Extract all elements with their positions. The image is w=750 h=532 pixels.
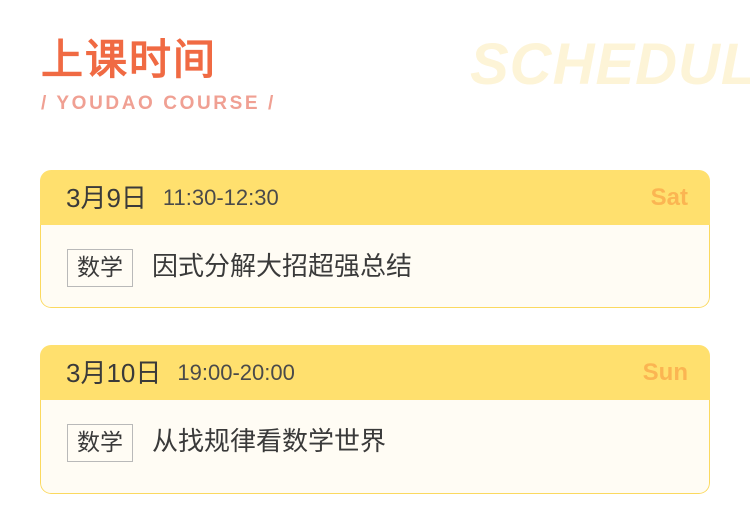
course-title: 从找规律看数学世界 xyxy=(152,428,386,454)
schedule-card[interactable]: 3月9日 11:30-12:30 Sat 数学 因式分解大招超强总结 xyxy=(40,170,710,308)
schedule-card-header: 3月9日 11:30-12:30 Sat xyxy=(40,170,710,225)
schedule-date: 3月10日 xyxy=(66,360,161,386)
page-header: SCHEDULE 上课时间 / YOUDAO COURSE / xyxy=(0,0,750,150)
schedule-time: 19:00-20:00 xyxy=(177,362,294,384)
schedule-weekday: Sun xyxy=(643,361,688,385)
subject-tag: 数学 xyxy=(67,424,133,462)
schedule-watermark-text: SCHEDULE xyxy=(470,36,750,94)
schedule-card[interactable]: 3月10日 19:00-20:00 Sun 数学 从找规律看数学世界 xyxy=(40,345,710,494)
schedule-time: 11:30-12:30 xyxy=(163,187,279,209)
schedule-card-body: 数学 因式分解大招超强总结 xyxy=(40,225,710,308)
page-title: 上课时间 xyxy=(41,36,217,84)
schedule-card-header: 3月10日 19:00-20:00 Sun xyxy=(40,345,710,400)
schedule-page: SCHEDULE 上课时间 / YOUDAO COURSE / 3月9日 11:… xyxy=(0,0,750,532)
schedule-weekday: Sat xyxy=(651,186,688,210)
schedule-date: 3月9日 xyxy=(66,185,147,211)
subject-tag: 数学 xyxy=(67,249,133,287)
page-subtitle: / YOUDAO COURSE / xyxy=(41,93,276,116)
schedule-card-body: 数学 从找规律看数学世界 xyxy=(40,400,710,494)
course-title: 因式分解大招超强总结 xyxy=(152,253,412,279)
